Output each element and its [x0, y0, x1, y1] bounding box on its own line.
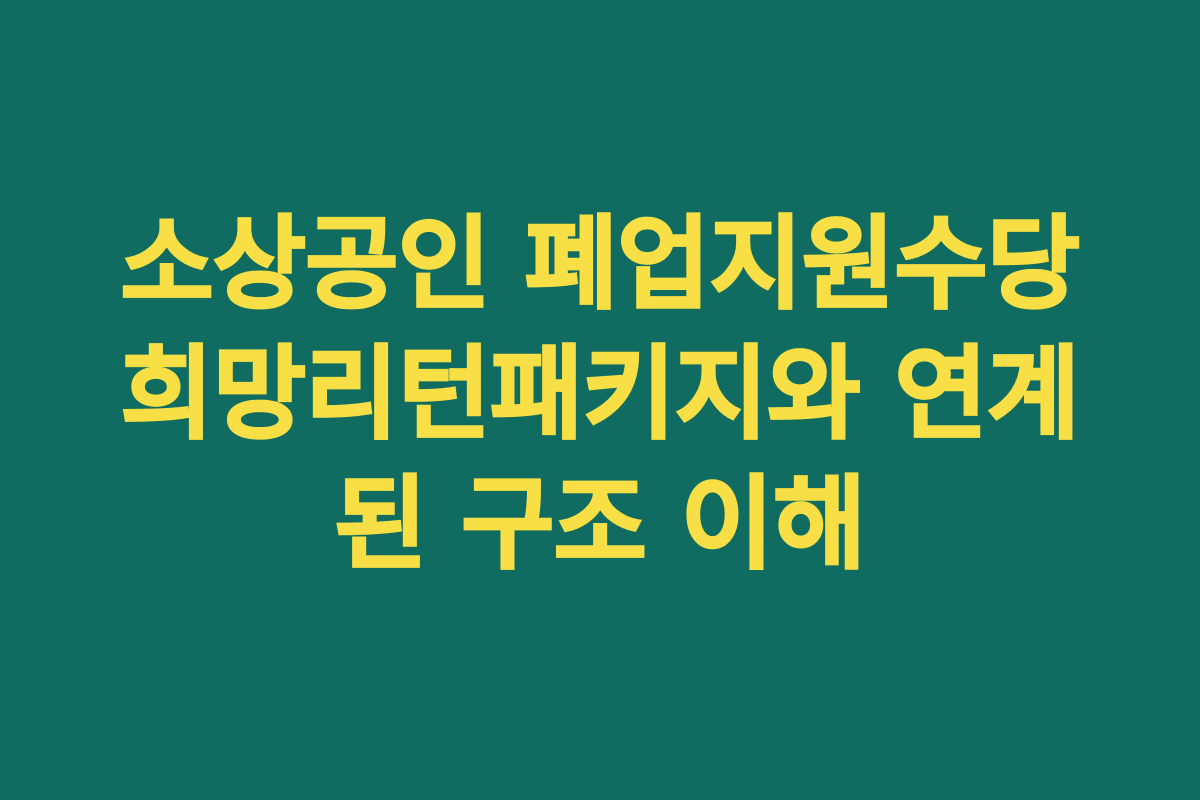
title-line-3: 된 구조 이해 [40, 459, 1160, 589]
title-line-1: 소상공인 폐업지원수당 [40, 199, 1160, 329]
banner-canvas: 소상공인 폐업지원수당 희망리턴패키지와 연계 된 구조 이해 [0, 0, 1200, 800]
title-block: 소상공인 폐업지원수당 희망리턴패키지와 연계 된 구조 이해 [0, 199, 1200, 589]
title-line-2: 희망리턴패키지와 연계 [40, 329, 1160, 459]
